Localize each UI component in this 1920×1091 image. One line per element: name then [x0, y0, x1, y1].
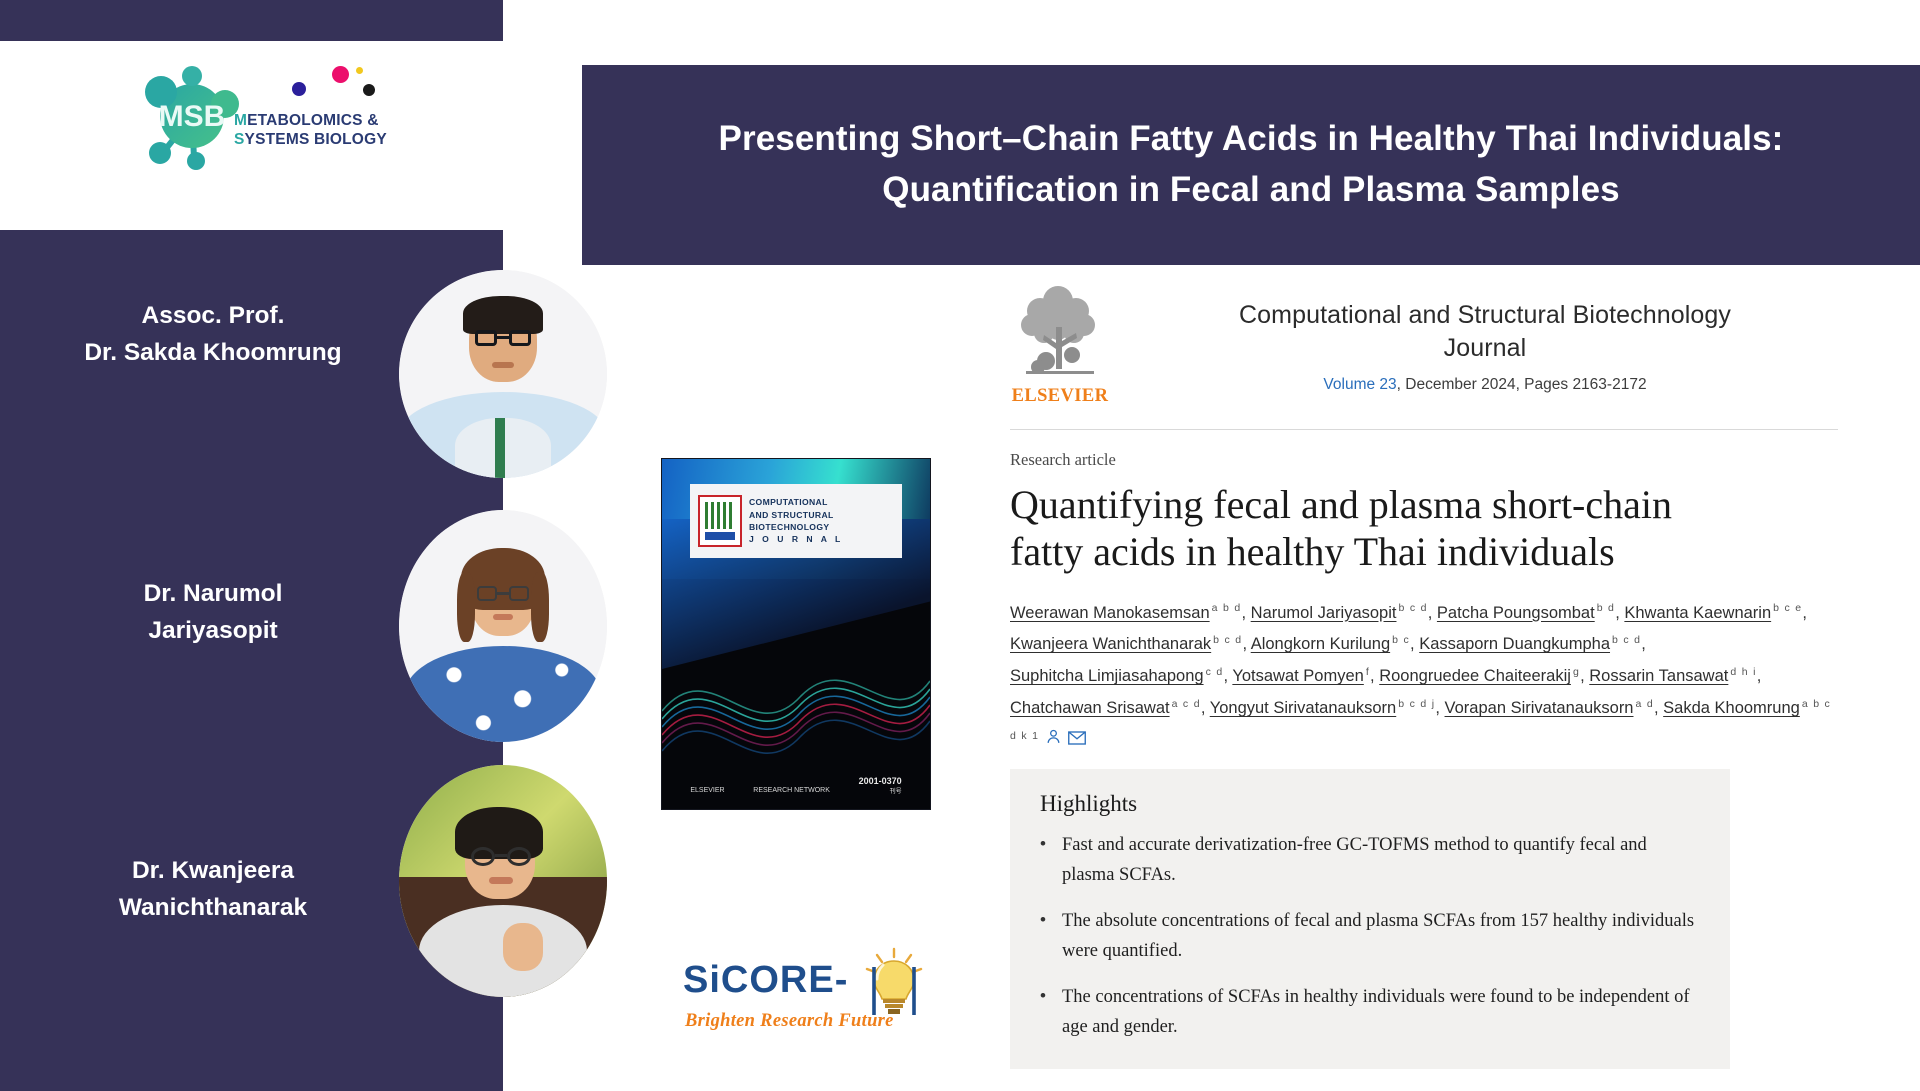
person-2-line1: Dr. Narumol [144, 580, 283, 607]
person-3-line2: Wanichthanarak [119, 894, 307, 921]
bullet-glyph-icon: • [1040, 983, 1048, 1043]
author-link[interactable]: Alongkorn Kurilung [1251, 635, 1390, 653]
msb-accent-dots [270, 66, 380, 111]
author-link[interactable]: Chatchawan Srisawat [1010, 699, 1170, 717]
author-affiliation-marks: c d [1204, 666, 1224, 678]
author-affiliation-marks: d h i [1728, 666, 1756, 678]
author-affiliation-marks: b d [1595, 602, 1616, 614]
sicore-tagline: Brighten Research Future [685, 1011, 894, 1032]
author-affiliation-marks: b c e [1771, 602, 1802, 614]
highlight-item: •The absolute concentrations of fecal an… [1040, 907, 1700, 967]
journal-title: Computational and Structural Biotechnolo… [1132, 299, 1838, 365]
article-title-line2: fatty acids in healthy Thai individuals [1010, 529, 1615, 574]
person-1-line2: Dr. Sakda Khoomrung [84, 339, 341, 366]
author-link[interactable]: Weerawan Manokasemsan [1010, 604, 1210, 622]
author-affiliation-marks: b c [1390, 634, 1410, 646]
bullet-glyph-icon: • [1040, 831, 1048, 891]
journal-cover-image: COMPUTATIONAL AND STRUCTURAL BIOTECHNOLO… [661, 458, 931, 810]
cover-issn: 2001-0370 [859, 776, 902, 786]
person-1-line1: Assoc. Prof. [142, 302, 285, 329]
journal-meta: Computational and Structural Biotechnolo… [1132, 285, 1838, 394]
person-name-1: Assoc. Prof. Dr. Sakda Khoomrung [48, 297, 378, 371]
author-link[interactable]: Yongyut Sirivatanauksorn [1210, 699, 1397, 717]
title-banner: Presenting Short–Chain Fatty Acids in He… [582, 65, 1920, 265]
highlight-text: The concentrations of SCFAs in healthy i… [1062, 983, 1700, 1043]
msb-logo: MSB METABOLOMICS & SYSTEMS BIOLOGY [130, 58, 400, 176]
msb-line1-rest: ETABOLOMICS & [247, 112, 378, 129]
author-list: Weerawan Manokasemsana b d, Narumol Jari… [1010, 598, 1838, 758]
author-link[interactable]: Roongruedee Chaiteerakij [1379, 667, 1571, 685]
bullet-glyph-icon: • [1040, 907, 1048, 967]
author-affiliation-marks: b c d [1211, 634, 1242, 646]
person-3-line1: Dr. Kwanjeera [132, 857, 294, 884]
author-affiliation-marks: b c d [1610, 634, 1641, 646]
author-affiliation-marks: a b d [1210, 602, 1242, 614]
journal-volume-line: Volume 23, December 2024, Pages 2163-217… [1132, 376, 1838, 394]
sicore-m-logo: SiCORE- Brighten Research Future [683, 945, 928, 1055]
slide-root: MSB METABOLOMICS & SYSTEMS BIOLOGY Prese… [0, 0, 1920, 1091]
elsevier-wordmark: ELSEVIER [1010, 386, 1110, 407]
page-title: Presenting Short–Chain Fatty Acids in He… [679, 114, 1824, 216]
highlight-text: Fast and accurate derivatization-free GC… [1062, 831, 1700, 891]
person-card-1: Assoc. Prof. Dr. Sakda Khoomrung [40, 275, 500, 465]
person-name-2: Dr. Narumol Jariyasopit [48, 575, 378, 649]
author-link[interactable]: Suphitcha Limjiasahapong [1010, 667, 1204, 685]
author-affiliation-marks: g [1571, 666, 1580, 678]
author-link[interactable]: Narumol Jariyasopit [1251, 604, 1397, 622]
highlights-box: Highlights •Fast and accurate derivatiza… [1010, 769, 1730, 1069]
msb-line1-lead: M [234, 112, 247, 129]
title-line-2: Quantification in Fecal and Plasma Sampl… [882, 170, 1619, 209]
author-link[interactable]: Kassaporn Duangkumpha [1419, 635, 1610, 653]
elsevier-logo: ELSEVIER [1010, 285, 1110, 407]
highlight-text: The absolute concentrations of fecal and… [1062, 907, 1700, 967]
cover-masthead: COMPUTATIONAL AND STRUCTURAL BIOTECHNOLO… [690, 484, 902, 558]
author-affiliation-marks: b c d j [1396, 698, 1435, 710]
highlights-heading: Highlights [1040, 791, 1700, 817]
author-affiliation-marks: f [1364, 666, 1370, 678]
cover-title-l4: J O U R N A L [749, 533, 843, 545]
article-type-label: Research article [1010, 450, 1838, 470]
cover-wave-graphic [662, 649, 930, 769]
journal-volume-link[interactable]: Volume 23 [1323, 376, 1396, 393]
journal-title-line1: Computational and Structural Biotechnolo… [1239, 301, 1731, 329]
author-link[interactable]: Patcha Poungsombat [1437, 604, 1595, 622]
author-affiliation-marks: a c d [1170, 698, 1201, 710]
msb-line2-lead: S [234, 131, 245, 148]
person-2-line2: Jariyasopit [148, 617, 277, 644]
svg-text:MSB: MSB [159, 100, 226, 133]
divider [1010, 429, 1838, 430]
author-link[interactable]: Rossarin Tansawat [1589, 667, 1728, 685]
author-affiliation-marks: b c d [1396, 602, 1427, 614]
cover-footer-elsevier: ELSEVIER [690, 786, 724, 795]
person-card-2: Dr. Narumol Jariyasopit [40, 545, 500, 735]
author-link[interactable]: Kwanjeera Wanichthanarak [1010, 635, 1211, 653]
msb-wordmark: METABOLOMICS & SYSTEMS BIOLOGY [234, 112, 387, 150]
avatar-2 [399, 510, 607, 742]
author-link[interactable]: Sakda Khoomrung [1663, 699, 1800, 717]
journal-volume-rest: , December 2024, Pages 2163-2172 [1397, 376, 1647, 393]
author-link[interactable]: Yotsawat Pomyen [1232, 667, 1363, 685]
cover-title-l3: BIOTECHNOLOGY [749, 521, 843, 533]
cover-footer-network: RESEARCH NETWORK [753, 786, 830, 795]
article-panel: ELSEVIER Computational and Structural Bi… [1010, 285, 1838, 1069]
left-band-top [0, 0, 503, 41]
journal-title-line2: Journal [1444, 334, 1527, 362]
article-title-line1: Quantifying fecal and plasma short-chain [1010, 482, 1672, 527]
title-line-1: Presenting Short–Chain Fatty Acids in He… [719, 119, 1784, 158]
avatar-1 [399, 270, 607, 478]
cover-title-l1: COMPUTATIONAL [749, 496, 843, 508]
article-title: Quantifying fecal and plasma short-chain… [1010, 482, 1838, 576]
author-affiliation-marks: a d [1633, 698, 1654, 710]
msb-line2-rest: YSTEMS BIOLOGY [245, 131, 387, 148]
sicore-wordmark: SiCORE- [683, 959, 848, 1002]
lightbulb-icon [861, 947, 927, 1017]
cover-emblem-icon [698, 495, 742, 547]
elsevier-tree-icon [1010, 285, 1110, 385]
cover-title-l2: AND STRUCTURAL [749, 509, 843, 521]
author-link[interactable]: Vorapan Sirivatanauksorn [1445, 699, 1634, 717]
avatar-3 [399, 765, 607, 997]
highlight-item: •The concentrations of SCFAs in healthy … [1040, 983, 1700, 1043]
envelope-icon[interactable] [1068, 725, 1086, 757]
cover-issn-sub: 刊号 [859, 786, 902, 795]
person-name-3: Dr. Kwanjeera Wanichthanarak [48, 852, 378, 926]
person-icon[interactable] [1045, 725, 1062, 757]
highlight-item: •Fast and accurate derivatization-free G… [1040, 831, 1700, 891]
journal-header: ELSEVIER Computational and Structural Bi… [1010, 285, 1838, 423]
msb-molecule-icon: MSB [130, 58, 245, 170]
author-link[interactable]: Khwanta Kaewnarin [1624, 604, 1771, 622]
person-card-3: Dr. Kwanjeera Wanichthanarak [40, 800, 500, 990]
